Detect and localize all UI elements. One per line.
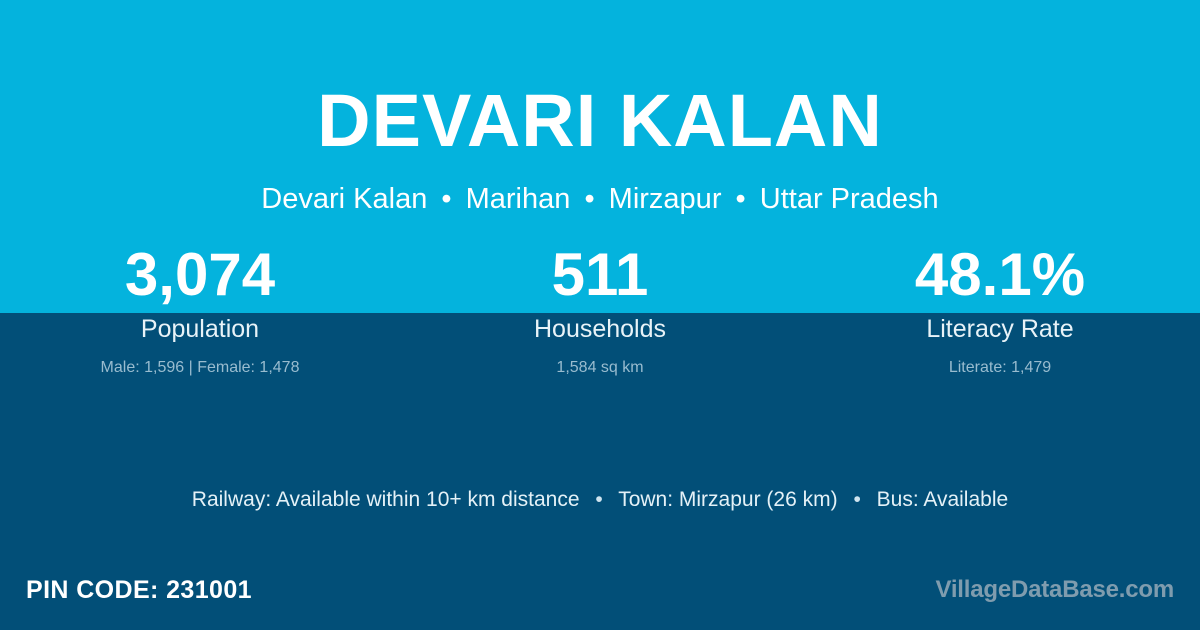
bus-info: Bus: Available (877, 488, 1009, 511)
breadcrumb-block: Marihan (466, 183, 571, 215)
stat-value: 3,074 (0, 240, 400, 310)
stat-label: Literacy Rate (800, 312, 1200, 346)
stat-subtext: 1,584 sq km (400, 356, 800, 380)
breadcrumb-district: Mirzapur (609, 183, 722, 215)
railway-info: Railway: Available within 10+ km distanc… (192, 488, 580, 511)
stat-households: 511 Households 1,584 sq km (400, 240, 800, 380)
breadcrumb-village: Devari Kalan (261, 183, 427, 215)
stat-label: Households (400, 312, 800, 346)
stat-subtext: Literate: 1,479 (800, 356, 1200, 380)
stat-value: 48.1% (800, 240, 1200, 310)
stat-value: 511 (400, 240, 800, 310)
page-title: DEVARI KALAN (0, 84, 1200, 158)
info-separator-icon: • (843, 488, 870, 511)
site-brand: VillageDataBase.com (935, 570, 1174, 610)
breadcrumb-state: Uttar Pradesh (760, 183, 939, 215)
footer: PIN CODE: 231001 VillageDataBase.com (0, 570, 1200, 616)
town-info: Town: Mirzapur (26 km) (618, 488, 837, 511)
breadcrumb-separator-icon: • (578, 183, 600, 215)
info-separator-icon: • (585, 488, 612, 511)
stat-label: Population (0, 312, 400, 346)
amenities-line: Railway: Available within 10+ km distanc… (0, 484, 1200, 516)
village-info-card: DEVARI KALAN Devari Kalan • Marihan • Mi… (0, 0, 1200, 630)
breadcrumb-separator-icon: • (730, 183, 752, 215)
stat-subtext: Male: 1,596 | Female: 1,478 (0, 356, 400, 380)
stat-population: 3,074 Population Male: 1,596 | Female: 1… (0, 240, 400, 380)
pin-code: PIN CODE: 231001 (26, 570, 252, 610)
breadcrumb-separator-icon: • (435, 183, 457, 215)
stat-literacy-rate: 48.1% Literacy Rate Literate: 1,479 (800, 240, 1200, 380)
breadcrumb: Devari Kalan • Marihan • Mirzapur • Utta… (0, 182, 1200, 217)
stats-row: 3,074 Population Male: 1,596 | Female: 1… (0, 240, 1200, 380)
